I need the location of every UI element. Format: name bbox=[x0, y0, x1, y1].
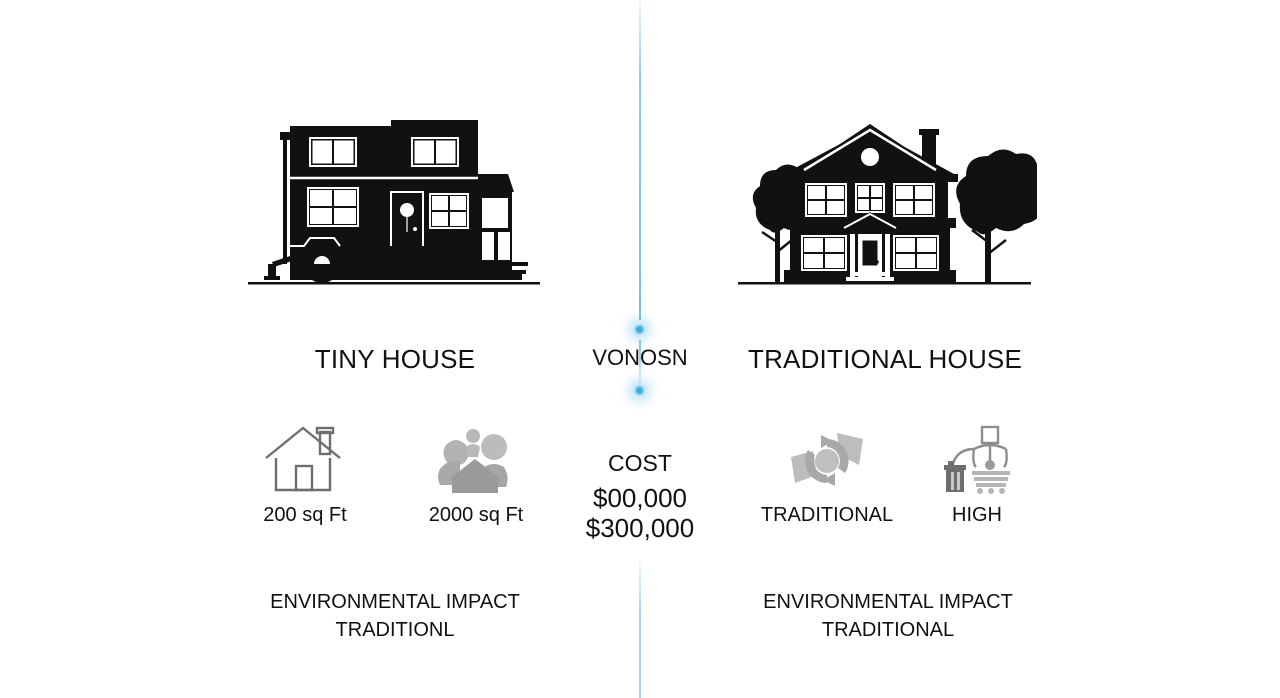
caption-left: ENVIRONMENTAL IMPACT TRADITIONL bbox=[185, 588, 605, 645]
waste-bin-and-lamp-icon bbox=[897, 420, 1057, 498]
cost-comparison-block: COST $00,000 $300,000 bbox=[540, 450, 740, 544]
page-title-traditional-house: TRADITIONAL HOUSE bbox=[685, 344, 1085, 375]
cost-value-tiny-house: $00,000 bbox=[540, 483, 740, 513]
divider-glow-dot-lower bbox=[634, 385, 645, 396]
cost-title: COST bbox=[540, 450, 740, 477]
caption-left-line2: TRADITIONL bbox=[185, 616, 605, 644]
caption-right-line2: TRADITIONAL bbox=[678, 616, 1098, 644]
caption-right: ENVIRONMENTAL IMPACT TRADITIONAL bbox=[678, 588, 1098, 645]
house-outline-icon bbox=[225, 420, 385, 498]
tiny-house-illustration bbox=[246, 112, 546, 307]
center-divider-bottom-segment bbox=[639, 560, 641, 698]
recycling-arrows-icon bbox=[747, 420, 907, 498]
metric-label-high-impact: HIGH bbox=[897, 504, 1057, 527]
page-title-tiny-house: TINY HOUSE bbox=[195, 344, 595, 375]
cost-value-traditional-house: $300,000 bbox=[540, 513, 740, 543]
divider-glow-dot-upper bbox=[634, 324, 645, 335]
traditional-house-illustration bbox=[732, 112, 1037, 307]
metric-high-impact: HIGH bbox=[897, 420, 1057, 527]
metric-label-tiny-house-size: 200 sq Ft bbox=[225, 504, 385, 527]
metric-traditional-house-size: 2000 sq Ft bbox=[396, 420, 556, 527]
metric-label-traditional-house-size: 2000 sq Ft bbox=[396, 504, 556, 527]
metric-traditional-impact: TRADITIONAL bbox=[747, 420, 907, 527]
caption-right-line1: ENVIRONMENTAL IMPACT bbox=[678, 588, 1098, 616]
caption-left-line1: ENVIRONMENTAL IMPACT bbox=[185, 588, 605, 616]
metric-label-traditional-impact: TRADITIONAL bbox=[747, 504, 907, 527]
center-divider-top-segment bbox=[639, 0, 641, 320]
metric-tiny-house-size: 200 sq Ft bbox=[225, 420, 385, 527]
group-of-people-icon bbox=[396, 420, 556, 498]
